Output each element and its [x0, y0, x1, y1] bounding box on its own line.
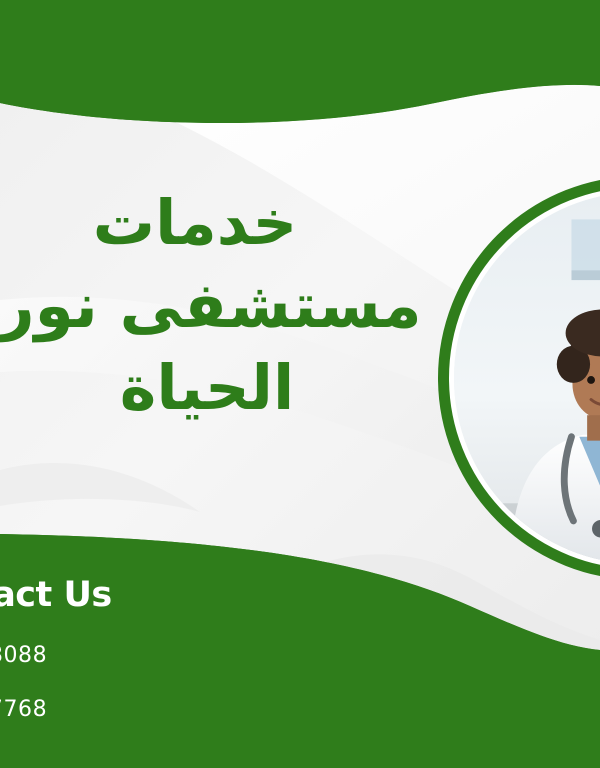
poster-canvas: خدمات مستشفى نور الحياة ontact Us -780-8…	[0, 0, 600, 768]
doctors-photo-circle	[438, 176, 600, 580]
contact-us-heading: ontact Us	[0, 575, 112, 615]
poster-headline: خدمات مستشفى نور الحياة	[0, 182, 460, 429]
headline-line-1: خدمات	[0, 182, 460, 264]
doctors-photo	[454, 192, 600, 564]
headline-line-3: الحياة	[0, 347, 460, 429]
phone-number-2[interactable]: -990-7768	[0, 697, 112, 722]
contact-block: ontact Us -780-8088 -990-7768	[0, 575, 112, 751]
headline-line-2: مستشفى نور	[0, 264, 460, 347]
phone-number-1[interactable]: -780-8088	[0, 643, 112, 668]
doctors-photo-illustration	[454, 192, 600, 564]
